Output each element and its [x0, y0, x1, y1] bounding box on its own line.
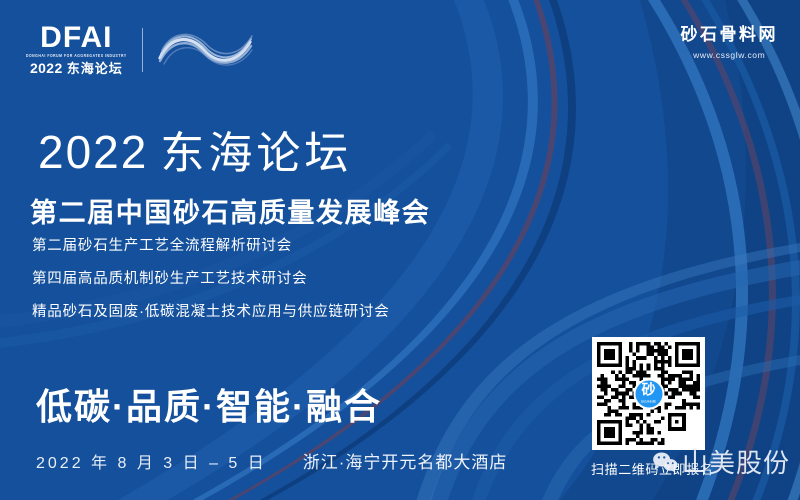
- qr-caption: 扫描二维码立即报名: [591, 459, 704, 478]
- session-item: 精品砂石及固废·低碳混凝土技术应用与供应链研讨会: [32, 300, 390, 321]
- qr-code[interactable]: 砂 砂石骨料网: [592, 337, 705, 450]
- title-year: 2022: [38, 126, 148, 178]
- dfai-chinese-name: 2022 东海论坛: [30, 61, 123, 75]
- page-title: 2022东海论坛: [38, 117, 352, 181]
- session-item: 第四届高品质机制砂生产工艺技术研讨会: [32, 267, 390, 288]
- dfai-year: 2022: [30, 61, 63, 75]
- title-name-cn: 东海论坛: [160, 129, 352, 178]
- qr-section: 砂 砂石骨料网 扫描二维码立即报名: [592, 337, 705, 478]
- session-item: 第二届砂石生产工艺全流程解析研讨会: [32, 234, 390, 255]
- ribbon-wave-icon: [156, 28, 256, 72]
- site-brand: 砂石骨料网 www.cssglw.com: [681, 26, 779, 60]
- dfai-wordmark-subtitle: DONGHAI FORUM FOR AGGREGATES INDUSTRY: [26, 54, 127, 58]
- slogan: 低碳·品质·智能·融合: [36, 378, 382, 430]
- dfai-wordmark: DFAI: [40, 24, 112, 53]
- brand-url: www.cssglw.com: [681, 50, 779, 60]
- dfai-name-cn: 东海论坛: [67, 62, 123, 75]
- brand-name-cn: 砂石骨料网: [681, 26, 779, 45]
- qr-logo-char: 砂: [642, 384, 656, 398]
- logo-divider: [142, 28, 143, 72]
- event-date: 2022 年 8 月 3 日 – 5 日: [36, 449, 267, 473]
- page-subtitle: 第二届中国砂石高质量发展峰会: [30, 191, 430, 230]
- dfai-logo: DFAI DONGHAI FORUM FOR AGGREGATES INDUST…: [26, 24, 256, 75]
- event-venue: 浙江·海宁开元名都大酒店: [303, 448, 508, 473]
- qr-center-logo: 砂 砂石骨料网: [633, 378, 664, 409]
- qr-logo-sub: 砂石骨料网: [641, 399, 655, 403]
- session-list: 第二届砂石生产工艺全流程解析研讨会 第四届高品质机制砂生产工艺技术研讨会 精品砂…: [32, 234, 390, 333]
- event-details: 2022 年 8 月 3 日 – 5 日 浙江·海宁开元名都大酒店: [36, 448, 507, 473]
- poster-canvas: DFAI DONGHAI FORUM FOR AGGREGATES INDUST…: [0, 0, 800, 500]
- dfai-wordmark-group: DFAI DONGHAI FORUM FOR AGGREGATES INDUST…: [26, 24, 127, 75]
